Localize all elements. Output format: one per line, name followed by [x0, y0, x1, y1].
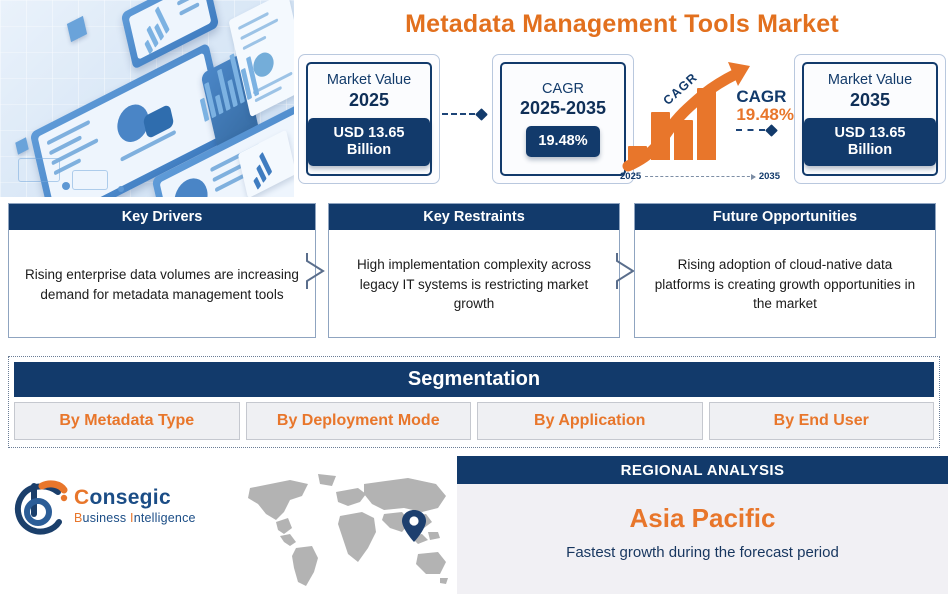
logo-name: Consegic: [74, 486, 171, 510]
kpi-value-pill: USD 13.65 Billion: [308, 118, 430, 166]
company-logo: Consegic Business Intelligence: [12, 478, 212, 540]
logo-tagline-b: B: [74, 511, 83, 525]
segmentation-item-application[interactable]: By Application: [477, 402, 703, 440]
illustration-dot-1: [62, 182, 70, 190]
regional-analysis-region: Asia Pacific: [630, 503, 776, 534]
segmentation-item-deployment-mode[interactable]: By Deployment Mode: [246, 402, 472, 440]
segmentation-items: By Metadata Type By Deployment Mode By A…: [14, 402, 934, 440]
cagr-readout: CAGR 19.48%: [736, 88, 794, 135]
cagr-axis-arrow-icon: [645, 176, 755, 177]
kpi-label: CAGR: [542, 81, 584, 98]
cagr-start-year: 2025: [620, 171, 641, 182]
chevron-right-icon: [614, 251, 636, 291]
connector-diamond-icon: [475, 108, 488, 121]
segmentation-heading: Segmentation: [14, 362, 934, 397]
hero-illustration: [0, 0, 294, 197]
world-map: [232, 470, 457, 598]
kpi-connector-1: [442, 109, 486, 119]
logo-tagline: Business Intelligence: [74, 511, 196, 525]
page-title: Metadata Management Tools Market: [296, 4, 948, 44]
logo-name-rest: onsegic: [89, 486, 170, 509]
kpi-card-inner: Market Value 2025 USD 13.65 Billion: [306, 62, 432, 176]
kpi-connector-2: [736, 125, 776, 135]
kpi-year: 2025-2035: [520, 98, 606, 119]
chevron-right-icon: [304, 251, 326, 291]
card-key-restraints: Key Restraints High implementation compl…: [328, 203, 620, 338]
connector-dashed-line: [736, 129, 765, 131]
kpi-card-market-value-2035: Market Value 2035 USD 13.65 Billion: [794, 54, 946, 184]
regional-analysis-body: Asia Pacific Fastest growth during the f…: [457, 484, 948, 594]
card-body: Rising adoption of cloud-native data pla…: [635, 230, 935, 339]
segmentation-item-metadata-type[interactable]: By Metadata Type: [14, 402, 240, 440]
card-key-drivers: Key Drivers Rising enterprise data volum…: [8, 203, 316, 338]
cagr-axis-years: 2025 2035: [620, 171, 780, 182]
card-body: Rising enterprise data volumes are incre…: [9, 230, 315, 339]
connector-dashed-line: [442, 113, 475, 115]
cagr-readout-title: CAGR: [736, 88, 794, 105]
kpi-value-pill: USD 13.65 Billion: [804, 118, 936, 166]
segmentation-section: Segmentation By Metadata Type By Deploym…: [8, 356, 940, 448]
kpi-card-inner: CAGR 2025-2035 19.48%: [500, 62, 626, 176]
logo-tagline-intelligence: ntelligence: [134, 511, 196, 525]
regional-analysis-heading: REGIONAL ANALYSIS: [457, 456, 948, 484]
regional-analysis-note: Fastest growth during the forecast perio…: [566, 544, 839, 561]
logo-name-initial: C: [74, 486, 89, 509]
card-heading: Key Restraints: [329, 204, 619, 230]
card-heading: Key Drivers: [9, 204, 315, 230]
consegic-logo-icon: [12, 480, 70, 536]
world-map-icon: [232, 470, 457, 598]
card-future-opportunities: Future Opportunities Rising adoption of …: [634, 203, 936, 338]
segmentation-item-end-user[interactable]: By End User: [709, 402, 935, 440]
card-body: High implementation complexity across le…: [329, 230, 619, 339]
cagr-growth-chart: CAGR 2025 2035 CAGR 19.48%: [620, 60, 788, 184]
kpi-card-cagr: CAGR 2025-2035 19.48%: [492, 54, 634, 184]
kpi-card-market-value-2025: Market Value 2025 USD 13.65 Billion: [298, 54, 440, 184]
illustration-flow-node-2: [72, 170, 108, 190]
kpi-value-pill: 19.48%: [526, 126, 599, 157]
connector-diamond-icon: [765, 124, 778, 137]
cagr-readout-value: 19.48%: [736, 105, 794, 125]
illustration-flow-node-1: [18, 158, 60, 182]
kpi-year: 2025: [349, 90, 389, 111]
logo-tagline-business: usiness: [83, 511, 130, 525]
cagr-end-year: 2035: [759, 171, 780, 182]
regional-analysis-panel: REGIONAL ANALYSIS Asia Pacific Fastest g…: [457, 456, 948, 594]
illustration-dot-2: [118, 186, 124, 192]
card-heading: Future Opportunities: [635, 204, 935, 230]
infographic-page: Metadata Management Tools Market Market …: [0, 0, 948, 600]
drivers-row: Key Drivers Rising enterprise data volum…: [0, 203, 948, 346]
kpi-row: Market Value 2025 USD 13.65 Billion CAGR…: [296, 46, 948, 194]
kpi-label: Market Value: [828, 72, 912, 89]
kpi-year: 2035: [850, 90, 890, 111]
kpi-label: Market Value: [327, 72, 411, 89]
kpi-card-inner: Market Value 2035 USD 13.65 Billion: [802, 62, 938, 176]
